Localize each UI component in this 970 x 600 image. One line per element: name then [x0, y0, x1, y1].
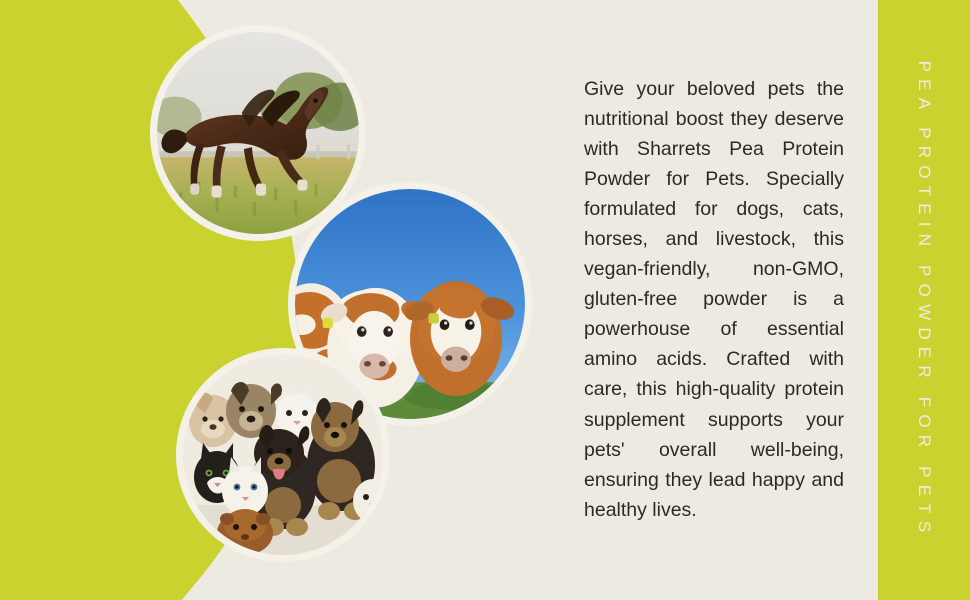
product-banner: PEA PROTEIN POWDER FOR PETS	[0, 0, 970, 600]
vertical-accent-bar: PEA PROTEIN POWDER FOR PETS	[878, 0, 970, 600]
vertical-product-title: PEA PROTEIN POWDER FOR PETS	[914, 61, 934, 540]
pets-photo	[176, 348, 390, 562]
product-description: Give your beloved pets the nutritional b…	[584, 74, 844, 525]
